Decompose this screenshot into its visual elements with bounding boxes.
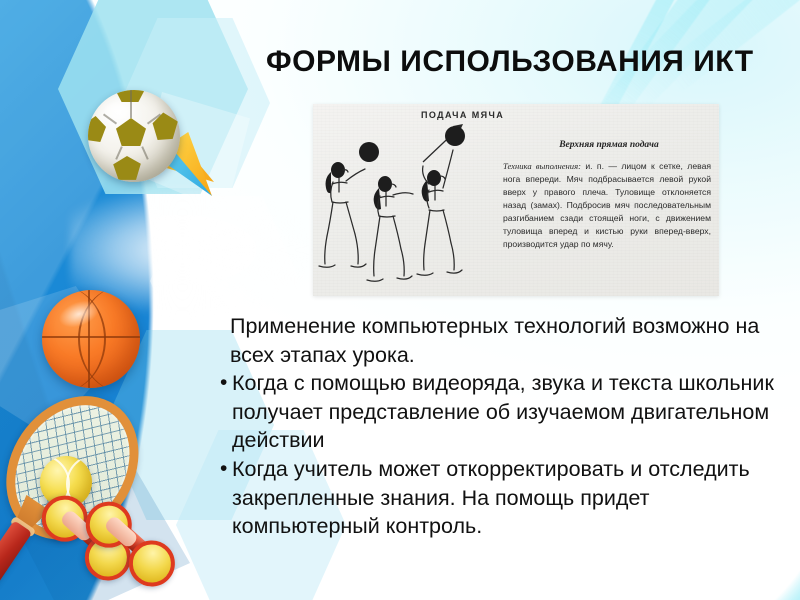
list-item: Когда с помощью видеоряда, звука и текст…: [222, 369, 788, 455]
figure-body-rest: и. п. — лицом к сетке, левая нога вперед…: [503, 161, 711, 249]
bullet-list: Когда с помощью видеоряда, звука и текст…: [222, 369, 788, 541]
list-item: Когда учитель может откорректировать и о…: [222, 455, 788, 541]
soccer-ball: [76, 72, 186, 182]
page-title: ФОРМЫ ИСПОЛЬЗОВАНИЯ ИКТ: [266, 44, 776, 79]
figure-body-text: Техника выполнения: и. п. — лицом к сетк…: [503, 160, 711, 251]
soccer-ball-icon: [88, 90, 180, 182]
slide-canvas: ФОРМЫ ИСПОЛЬЗОВАНИЯ ИКТ ПОДАЧА МЯЧА: [0, 0, 800, 600]
volleyball-players-illustration: [313, 118, 503, 296]
figure-subtitle: Верхняя прямая подача: [509, 140, 709, 150]
figure-body-lead: Техника выполнения:: [503, 161, 581, 171]
dumbbells-icon: [74, 492, 204, 592]
textbook-figure-image: ПОДАЧА МЯЧА: [313, 104, 719, 296]
slide-body-content: Применение компьютерных технологий возмо…: [222, 312, 788, 541]
intro-paragraph: Применение компьютерных технологий возмо…: [230, 312, 788, 369]
